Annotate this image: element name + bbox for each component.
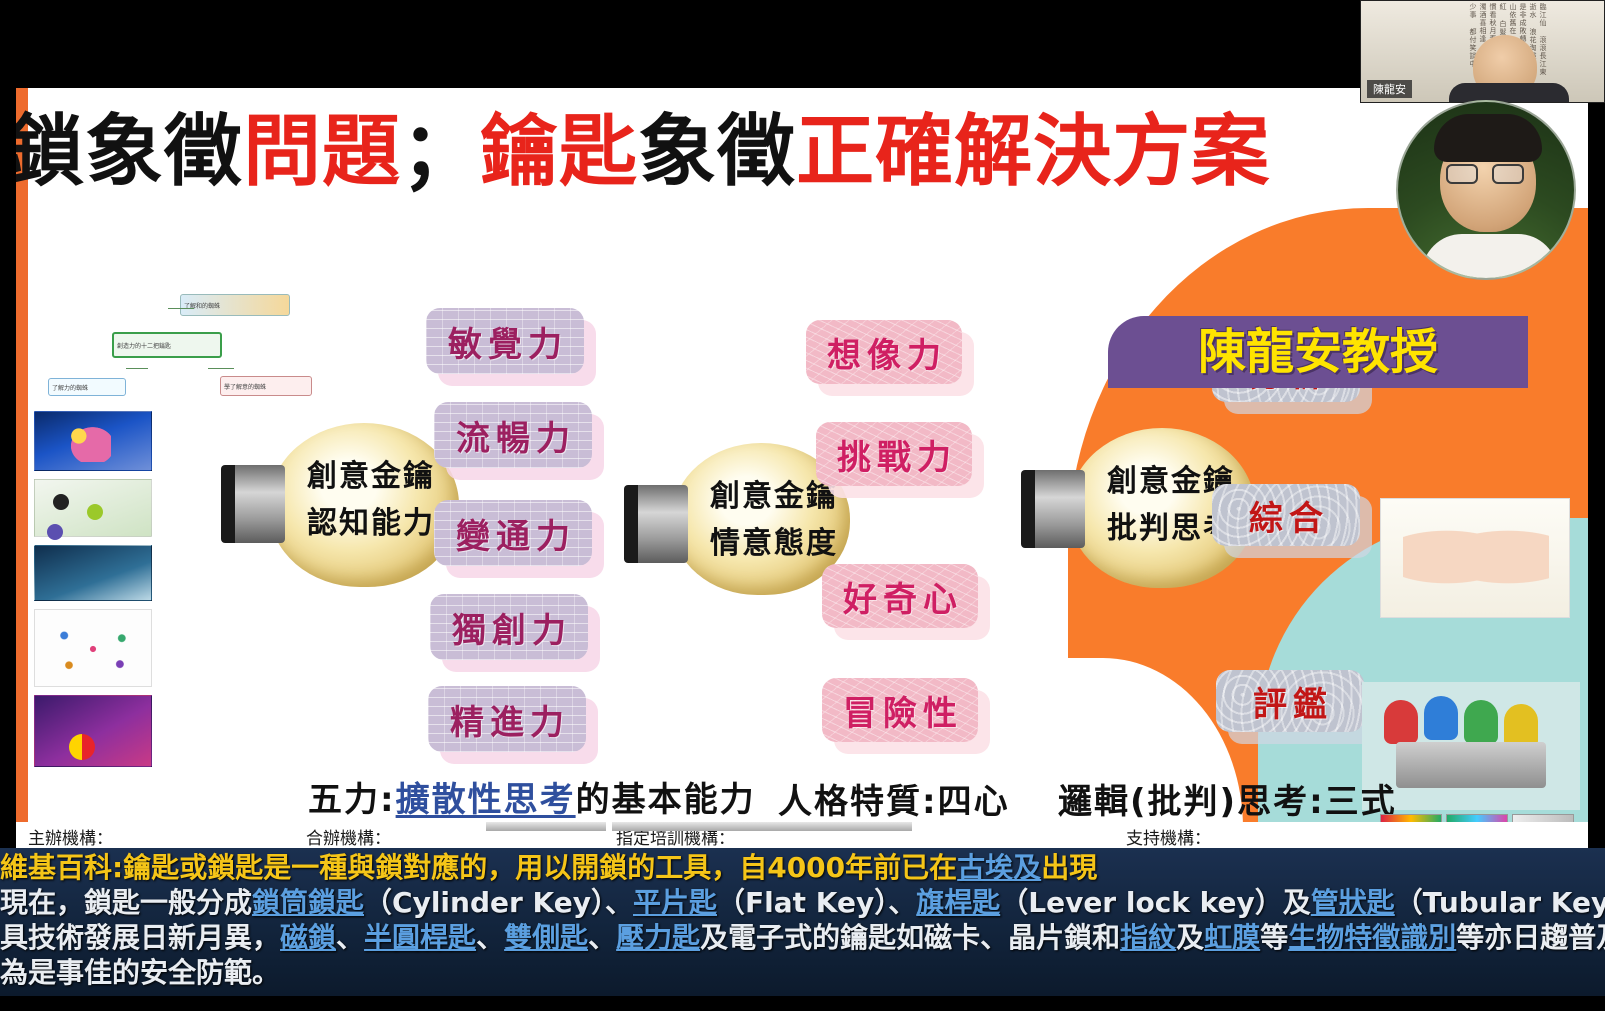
subtitle-segment: 、 [336,921,364,954]
pip2-shirt [1422,234,1558,280]
subtitle-line-3: 具技術發展日新月異，磁鎖、半圓桿匙、雙側匙、壓力匙及電子式的鑰匙如磁卡、晶片鎖和… [0,920,1605,955]
pip2-glasses-left [1446,164,1478,184]
pip-name-label: 陳龍安 [1367,80,1412,98]
sponsor-logo-bar-2 [612,822,912,831]
subtitle-segment[interactable]: 虹膜 [1204,921,1260,954]
subtitle-segment[interactable]: 平片匙 [633,886,717,919]
subtitle-segment: 維基百科: [0,851,123,884]
subtitle-segment: 、 [476,921,504,954]
subtitle-segment: 具技術發展日新月異， [0,921,280,954]
subtitle-segment[interactable]: 半圓桿匙 [364,921,476,954]
subtitle-panel: 維基百科:鑰匙或鎖匙是一種與鎖對應的，用以開鎖的工具，自4000年前已在古埃及出… [0,848,1605,996]
subtitle-segment: 現在，鎖匙一般分成 [0,886,252,919]
subtitle-segment[interactable]: 壓力匙 [616,921,700,954]
video-pip-speaker-circle[interactable] [1396,100,1576,280]
bulb2-line2: 情意態度 [682,520,866,567]
thumbnail-night-image [34,545,152,601]
chip-col2-2: 挑戰力 [816,422,972,486]
subtitle-segment: 鑰匙或鎖匙是一種與鎖對應的，用以開鎖的工具，自 [123,851,767,884]
pip2-hair [1434,114,1542,162]
sponsor-label-4: 支持機構： [1126,824,1211,848]
key-red-icon [1384,700,1418,744]
left-thumbnail-strip [34,293,174,775]
subtitle-segment[interactable]: 生物特徵識別 [1288,921,1456,954]
subtitle-segment[interactable]: 古埃及 [957,851,1041,884]
mindmap-node-1: 了解和的蜘蛛 [180,294,290,316]
chip-col3-3: 評鑑 [1216,670,1364,732]
caption-col1: 五力:擴散性思考的基本能力 [308,772,756,821]
title-part-2: 問題 [243,107,401,197]
title-part-4: 鑰匙 [480,107,638,197]
chip-col2-3: 好奇心 [822,564,978,628]
mindmap-node-4-label: 學了解意的蜘蛛 [224,382,266,391]
subtitle-line-2: 現在，鎖匙一般分成鎖筒鎖匙（Cylinder Key）、平片匙（Flat Key… [0,885,1605,920]
title-part-1: 鎖象徵 [16,107,243,197]
bulb-base-icon [1021,470,1085,548]
caption-col2: 人格特質:四心 [778,774,1010,823]
mindmap-node-4: 學了解意的蜘蛛 [220,376,312,396]
subtitle-segment: （Cylinder Key）、 [364,886,633,919]
subtitle-segment: 為是事佳的安全防範。 [0,956,280,989]
chip-col1-2: 流暢力 [434,402,592,468]
sponsor-logo-bar-1 [486,822,606,831]
sponsor-label-row: 主辦機構： 合辦機構： 指定培訓機構： 支持機構： [16,822,1588,848]
sponsor-label-1: 主辦機構： [28,824,113,848]
chip-col2-1: 想像力 [806,320,962,384]
subtitle-line-1: 維基百科:鑰匙或鎖匙是一種與鎖對應的，用以開鎖的工具，自4000年前已在古埃及出… [0,850,1605,885]
bulb-base-icon [624,485,688,563]
subtitle-segment: 4000 [767,851,845,884]
professor-name-text: 陳龍安教授 [1108,316,1528,388]
chip-col1-5: 精進力 [428,686,586,752]
chip-col1-1: 敏覺力 [426,308,584,374]
caption-col1-post: 的基本能力 [576,780,756,820]
subtitle-line-4: 為是事佳的安全防範。 [0,955,1605,990]
subtitle-segment: 及電子式的鑰匙如磁卡、晶片鎖和 [700,921,1120,954]
subtitle-segment: 年前已在 [845,851,957,884]
subtitle-segment: 、 [588,921,616,954]
caption-col1-pre: 五力: [308,780,396,820]
subtitle-segment[interactable]: 雙側匙 [504,921,588,954]
video-pip-speaker-main[interactable]: 臨江仙 滾滾長江東逝水 浪花淘盡英雄 是非成敗轉頭空 青山依舊在 幾度夕陽紅 白… [1360,0,1605,103]
subtitle-segment[interactable]: 旗桿匙 [916,886,1000,919]
subtitle-segment: （Flat Key）、 [717,886,916,919]
caption-col1-link: 擴散性思考 [396,780,576,820]
key-blades [1396,742,1546,788]
bulb-base-icon [221,465,285,543]
sponsor-label-2: 合辦機構： [306,824,391,848]
subtitle-segment: 等亦日趨普及，為 [1456,921,1605,954]
subtitle-segment[interactable]: 管狀匙 [1311,886,1395,919]
key-green-icon [1464,700,1498,744]
chip-col1-3: 變通力 [434,500,592,566]
thumbnail-concept-image [34,479,152,537]
title-part-3: ； [401,107,480,197]
chip-col2-4: 冒險性 [822,678,978,742]
subtitle-segment[interactable]: 鎖筒鎖匙 [252,886,364,919]
subtitle-segment: （Tubular Key）四大類，但鎖 [1395,886,1605,919]
chip-col3-2: 綜合 [1212,484,1360,546]
subtitle-segment: 等 [1260,921,1288,954]
slide-title: 鎖象徵問題；鑰匙象徵正確解決方案 [16,102,1436,202]
thumbnail-song-image [34,695,152,767]
brain-diagram-thumbnail [1380,498,1570,618]
subtitle-segment: 及 [1176,921,1204,954]
caption-col3: 邏輯(批判)思考:三式 [1058,774,1397,823]
professor-name-banner: 陳龍安教授 [1108,316,1528,388]
subtitle-segment: 出現 [1041,851,1097,884]
letterbox-bottom [0,996,1605,1011]
pip2-glasses-right [1492,164,1524,184]
slide-left-accent-bar [16,88,28,848]
thumbnail-mindmap-image [34,609,152,687]
screen: 鎖象徵問題；鑰匙象徵正確解決方案 陳龍安教授 了解和的蜘蛛 創造力的十二把鑰匙 … [0,0,1605,1011]
thumbnail-keys-image [34,411,152,471]
mindmap-connector [208,368,234,369]
subtitle-segment[interactable]: 磁鎖 [280,921,336,954]
title-part-5: 象徵 [638,107,796,197]
subtitle-segment: （Lever lock key）及 [1000,886,1311,919]
key-blue-icon [1424,696,1458,740]
pip-speaker-body [1449,83,1569,103]
chip-col1-4: 獨創力 [430,594,588,660]
title-part-6: 正確解決方案 [796,107,1270,197]
subtitle-segment[interactable]: 指紋 [1120,921,1176,954]
presentation-slide: 鎖象徵問題；鑰匙象徵正確解決方案 陳龍安教授 了解和的蜘蛛 創造力的十二把鑰匙 … [16,88,1588,848]
